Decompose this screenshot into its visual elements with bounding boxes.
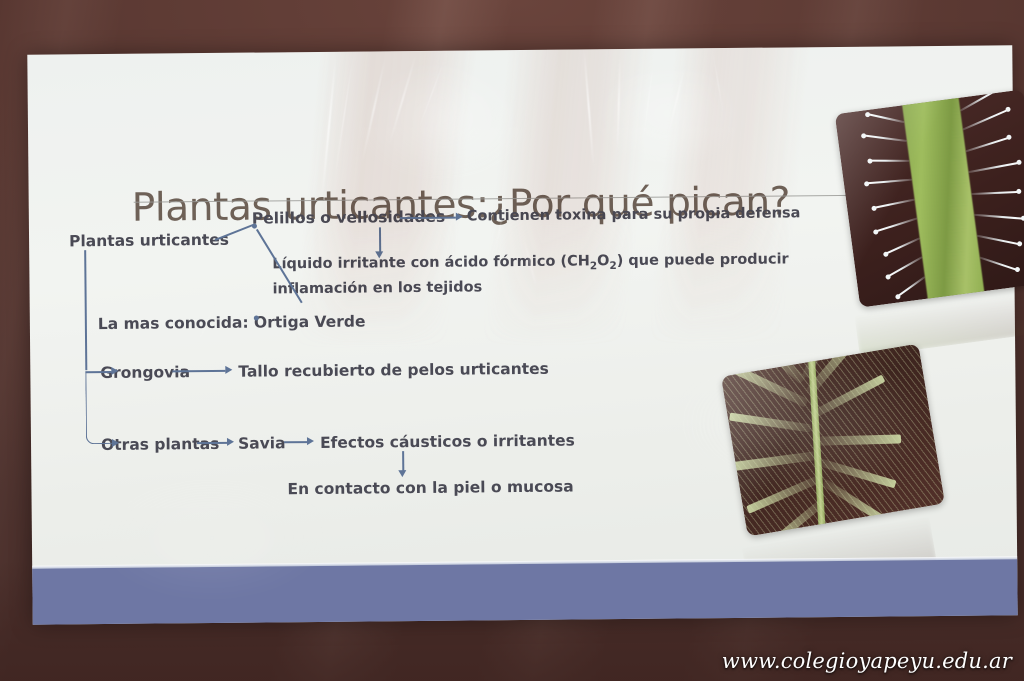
watermark: www.colegioyapeyu.edu.ar — [722, 649, 1012, 673]
slide-title: Plantas urticantes:¿Por qué pican? — [132, 179, 791, 230]
arrowhead-tallo — [225, 366, 232, 374]
arrowhead-otras — [112, 439, 119, 447]
node-toxina: Contienen toxina para su propia defensa — [467, 205, 801, 224]
node-efectos: Efectos cáusticos o irritantes — [320, 432, 575, 452]
node-tallo: Tallo recubierto de pelos urticantes — [238, 360, 549, 381]
connector-dot-pelillos — [252, 224, 257, 229]
arrowhead-efectos — [307, 437, 314, 445]
node-savia: Savia — [238, 434, 286, 452]
presentation-slide: Plantas urticantes:¿Por qué pican? Plant… — [27, 45, 1017, 624]
liquido-text-a: Líquido irritante con ácido fórmico (CH — [272, 253, 590, 272]
liquido-text-b: O — [597, 253, 609, 269]
arrowhead-liquido — [375, 251, 383, 258]
node-ortiga: La mas conocida: Ortiga Verde — [98, 313, 366, 334]
connector-spine — [84, 250, 87, 370]
connector-dot-ortiga — [254, 316, 259, 321]
node-liquido-line2: inflamación en los tejidos — [272, 279, 482, 297]
node-contacto: En contacto con la piel o mucosa — [287, 478, 573, 499]
slide-bottom-bar — [32, 559, 1017, 624]
connector-savia-to-efectos — [284, 441, 307, 443]
photo-glare — [721, 344, 945, 537]
projection-screen: Plantas urticantes:¿Por qué pican? Plant… — [27, 45, 1017, 624]
connector-spine-to-otras — [85, 371, 113, 444]
node-liquido-line1: Líquido irritante con ácido fórmico (CH2… — [272, 251, 789, 275]
connector-otras-to-savia — [197, 442, 227, 444]
photo-stinging-stem — [835, 89, 1024, 307]
arrowhead-savia — [227, 438, 234, 446]
photo-glare — [835, 89, 1024, 307]
node-plantas-urticantes: Plantas urticantes — [69, 231, 229, 251]
connector-grongovia-to-tallo — [172, 370, 225, 372]
photo-hairy-leaf — [721, 344, 945, 537]
liquido-sub-1: 2 — [590, 260, 597, 272]
arrowhead-contacto — [398, 470, 406, 477]
arrowhead-toxina — [456, 213, 463, 221]
liquido-text-c: ) que puede producir — [617, 251, 789, 269]
